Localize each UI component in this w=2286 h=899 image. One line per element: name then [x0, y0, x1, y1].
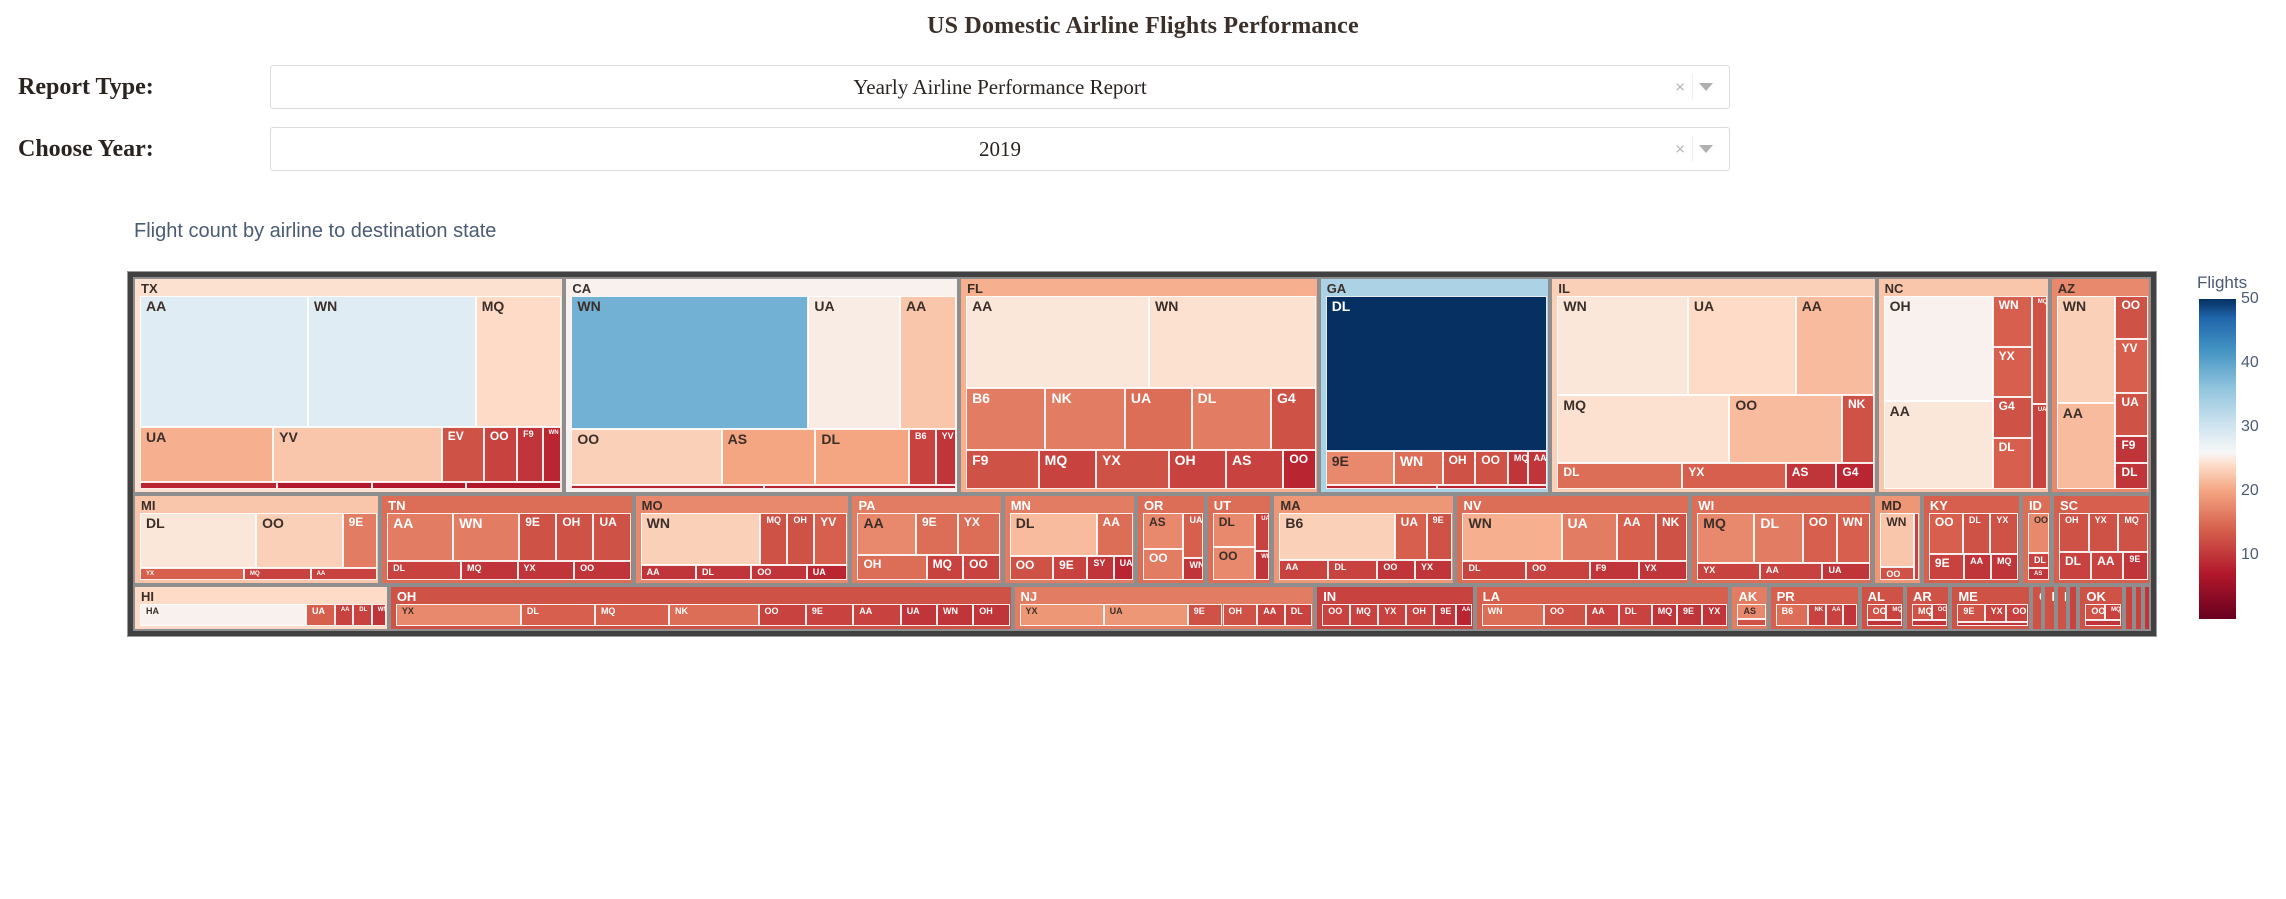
treemap-airline-tile[interactable]: AA — [2091, 552, 2123, 580]
treemap-airline-tile[interactable] — [1957, 622, 2028, 626]
state-label: SC — [2060, 498, 2078, 513]
state-label: MA — [1280, 498, 1300, 513]
airline-label: DL — [1334, 563, 1346, 572]
treemap-airline-tile[interactable]: OO — [1377, 560, 1415, 580]
treemap-airline-tile[interactable]: OO — [1322, 604, 1350, 626]
treemap-airline-tile[interactable]: AA — [1097, 513, 1133, 556]
treemap-airline-tile[interactable]: MQ — [1039, 450, 1096, 489]
treemap-airline-tile[interactable]: WN — [1482, 604, 1544, 626]
choose-year-value: 2019 — [271, 137, 1729, 162]
treemap-airline-tile[interactable]: DL — [2028, 553, 2049, 568]
treemap-state-ne[interactable]: NE — [2056, 585, 2069, 631]
treemap-airline-tile[interactable] — [140, 482, 277, 489]
treemap-airline-tile[interactable]: YX — [1020, 604, 1104, 626]
treemap-airline-tile[interactable]: MQ — [595, 604, 669, 626]
treemap-airline-tile[interactable]: YX — [140, 568, 244, 581]
treemap-airline-tile[interactable]: MQ — [1697, 513, 1754, 563]
treemap-airline-tile[interactable]: 9E — [1188, 604, 1223, 626]
treemap-airline-tile[interactable]: OO — [1143, 549, 1184, 580]
treemap-airline-tile[interactable]: YX — [1993, 347, 2032, 398]
treemap-airline-tile[interactable]: WN — [641, 513, 761, 565]
treemap-state-ma[interactable]: MAB6UA9EAADLOOYX — [1272, 494, 1455, 585]
airline-label: UA — [1828, 566, 1841, 575]
treemap-airline-tile[interactable]: YV — [2115, 339, 2148, 393]
chevron-down-icon[interactable] — [1699, 145, 1713, 153]
treemap-airline-tile[interactable]: MQ — [2105, 604, 2121, 620]
airline-label: DL — [1625, 607, 1637, 616]
treemap-airline-tile[interactable]: OH — [2059, 513, 2089, 552]
treemap-airline-tile[interactable]: OO — [1880, 567, 1913, 580]
treemap-state-ia[interactable]: IA — [2043, 585, 2056, 631]
treemap-airline-tile[interactable]: WN — [453, 513, 519, 561]
airline-label: AA — [1534, 454, 1547, 463]
treemap-airline-tile[interactable]: UA — [901, 604, 937, 626]
choose-year-row: Choose Year: 2019 × — [0, 118, 2286, 180]
airline-label: DL — [146, 516, 165, 531]
treemap-airline-tile[interactable]: YX — [396, 604, 521, 626]
treemap-airline-tile[interactable]: WN — [571, 296, 808, 429]
treemap-state-ak[interactable]: AKAS — [1730, 585, 1768, 631]
airline-label: AA — [1623, 516, 1640, 529]
treemap-airline-tile[interactable]: MQ — [1508, 451, 1528, 485]
treemap-airline-tile[interactable]: G4 — [1993, 397, 2032, 438]
treemap-airline-tile[interactable] — [1843, 604, 1856, 626]
treemap-airline-tile[interactable]: DL — [140, 513, 256, 568]
treemap-airline-tile[interactable]: AA — [2057, 403, 2116, 489]
treemap-airline-tile[interactable]: OO — [1932, 604, 1948, 620]
treemap-airline-tile[interactable]: OH — [1406, 604, 1434, 626]
airline-label: NK — [1662, 516, 1679, 529]
treemap-airline-tile[interactable]: MQ — [760, 513, 787, 565]
airline-label: AA — [2063, 406, 2083, 421]
treemap-airline-tile[interactable]: YX — [1682, 463, 1785, 489]
treemap-airline-tile[interactable]: DL — [1963, 513, 1991, 555]
treemap-airline-tile[interactable]: WN — [1837, 513, 1871, 563]
treemap-airline-tile[interactable]: NK — [1045, 388, 1124, 451]
treemap-state-ky[interactable]: KYOODLYX9EAAMQ — [1922, 494, 2021, 585]
treemap-airline-tile[interactable]: OH — [1884, 296, 1993, 401]
treemap-airline-tile[interactable]: WN — [1394, 451, 1443, 485]
treemap-state-ut[interactable]: UTDLOOUAWN — [1206, 494, 1273, 585]
treemap-airline-tile[interactable]: OH — [973, 604, 1009, 626]
airline-label: 9E — [922, 516, 937, 529]
treemap-airline-tile[interactable]: UA — [140, 427, 273, 481]
treemap-airline-tile[interactable]: F9 — [1590, 561, 1639, 580]
treemap-airline-tile[interactable]: OO — [1729, 395, 1842, 463]
treemap-airline-tile[interactable]: YX — [1096, 450, 1169, 489]
treemap-chart[interactable]: TXAAWNMQUAYVEVOOF9WNCAWNUAAAOOASDLB6YVFL… — [127, 271, 2157, 637]
treemap-airline-tile[interactable]: UA — [808, 296, 900, 429]
treemap-airline-tile[interactable]: DL — [1192, 388, 1271, 451]
treemap-airline-tile[interactable]: UA — [1255, 513, 1269, 551]
treemap-airline-tile[interactable]: UA — [807, 565, 848, 580]
airline-label: AA — [859, 607, 872, 616]
treemap-airline-tile[interactable]: WN — [937, 604, 973, 626]
treemap-airline-tile[interactable]: 9E — [1326, 451, 1394, 485]
treemap-airline-tile[interactable]: AA — [1617, 513, 1656, 561]
airline-label: AA — [1462, 607, 1471, 613]
treemap-airline-tile[interactable]: UA — [1104, 604, 1188, 626]
treemap-airline-tile[interactable]: YX — [1697, 563, 1760, 580]
treemap-airline-tile[interactable] — [1437, 485, 1548, 489]
treemap-airline-tile[interactable]: DL — [1462, 561, 1526, 580]
treemap-state-pa[interactable]: PAAA9EYXOHMQOO — [850, 494, 1002, 585]
airline-label: AS — [1743, 607, 1756, 616]
chevron-down-icon[interactable] — [1699, 83, 1713, 91]
treemap-airline-tile[interactable]: DL — [353, 604, 371, 626]
treemap-state-oh[interactable]: OHYXDLMQNKOO9EAAUAWNOH — [389, 585, 1013, 631]
treemap-airline-tile[interactable] — [466, 482, 561, 489]
treemap-airline-tile[interactable]: MQ — [1886, 604, 1902, 620]
airline-label: AS — [1232, 453, 1251, 468]
treemap-state-nc[interactable]: NCOHAAWNYXG4DLMQUA — [1877, 277, 2050, 494]
treemap-airline-tile[interactable]: NK — [1842, 395, 1874, 463]
treemap-airline-tile[interactable]: YV — [936, 429, 956, 484]
airline-label: F9 — [1596, 564, 1607, 573]
treemap-airline-tile[interactable]: OO — [574, 561, 631, 580]
airline-label: YX — [1703, 566, 1715, 575]
treemap-airline-tile[interactable]: DL — [2115, 463, 2148, 489]
treemap-airline-tile[interactable]: DL — [1326, 296, 1548, 451]
treemap-airline-tile[interactable]: 9E — [1929, 554, 1964, 580]
treemap-airline-tile[interactable]: AA — [335, 604, 353, 626]
treemap-state-tx[interactable]: TXAAWNMQUAYVEVOOF9WN — [133, 277, 564, 494]
treemap-airline-tile[interactable]: AA — [1826, 604, 1843, 626]
treemap-state-az[interactable]: AZWNAAOOYVUAF9DL — [2050, 277, 2151, 494]
treemap-airline-tile[interactable]: G4 — [1271, 388, 1316, 451]
treemap-airline-tile[interactable]: DL — [1557, 463, 1682, 489]
treemap-airline-tile[interactable]: UA — [1183, 513, 1202, 558]
treemap-airline-tile[interactable]: NK — [1656, 513, 1687, 561]
treemap-airline-tile[interactable]: YX — [1639, 561, 1688, 580]
treemap-state-il[interactable]: ILWNUAAAMQOONKDLYXASG4 — [1550, 277, 1876, 494]
treemap-airline-tile[interactable]: DL — [1619, 604, 1652, 626]
treemap-state-nm[interactable]: NM — [2124, 585, 2134, 631]
state-label: AZ — [2058, 281, 2075, 296]
airline-label: MQ — [1563, 398, 1586, 413]
treemap-airline-tile[interactable]: YX — [2089, 513, 2119, 552]
treemap-airline-tile[interactable]: DL — [696, 565, 751, 580]
airline-label: YX — [402, 607, 414, 616]
treemap-state-id[interactable]: IDOODLAS — [2021, 494, 2052, 585]
airline-label: YX — [1708, 607, 1720, 616]
treemap-airline-tile[interactable]: 9E — [1427, 513, 1453, 560]
treemap-airline-tile[interactable]: AA — [1760, 563, 1823, 580]
treemap-state-wv[interactable]: WV — [2143, 585, 2151, 631]
treemap-airline-tile[interactable]: AS — [2028, 568, 2049, 580]
treemap-airline-tile[interactable]: UA — [1822, 563, 1870, 580]
clear-icon[interactable]: × — [1675, 141, 1685, 158]
colorbar-tick: 10 — [2241, 546, 2259, 564]
airline-label: YV — [2121, 342, 2137, 355]
treemap-airline-tile[interactable]: AA — [1257, 604, 1284, 626]
treemap-airline-tile[interactable]: AA — [311, 568, 378, 581]
treemap-airline-tile[interactable]: 9E — [519, 513, 556, 561]
treemap-airline-tile[interactable]: AA — [1796, 296, 1874, 395]
treemap-airline-tile[interactable]: AS — [722, 429, 816, 484]
treemap-airline-tile[interactable]: AA — [966, 296, 1149, 388]
treemap-airline-tile[interactable]: OO — [1010, 556, 1053, 580]
treemap-airline-tile[interactable]: EV — [442, 427, 484, 481]
treemap-airline-tile[interactable]: WN — [1255, 551, 1269, 580]
treemap-state-pr[interactable]: PRB6NKAA — [1769, 585, 1860, 631]
treemap-airline-tile[interactable]: AS — [1737, 604, 1765, 619]
treemap-state-or[interactable]: ORASOOUAWN — [1136, 494, 1206, 585]
treemap-airline-tile[interactable]: SY — [1087, 556, 1113, 580]
treemap-airline-tile[interactable]: DL — [815, 429, 909, 484]
state-label: OR — [1144, 498, 1164, 513]
treemap-airline-tile[interactable]: MQ — [244, 568, 311, 581]
treemap-airline-tile[interactable]: UA — [1562, 513, 1618, 561]
treemap-airline-tile[interactable]: DL — [2059, 552, 2091, 580]
treemap-airline-tile[interactable]: MQ — [1350, 604, 1378, 626]
treemap-airline-tile[interactable]: OO — [1213, 547, 1255, 581]
airline-label: UA — [146, 430, 166, 445]
treemap-airline-tile[interactable]: OO — [256, 513, 343, 568]
treemap-airline-tile[interactable]: OO — [571, 429, 721, 484]
treemap-airline-tile[interactable]: AA — [1586, 604, 1619, 626]
treemap-airline-tile[interactable]: B6 — [909, 429, 936, 484]
treemap-airline-tile[interactable]: WN — [1183, 558, 1202, 580]
treemap-airline-tile[interactable]: AA — [641, 565, 696, 580]
treemap-airline-tile[interactable]: WN — [543, 427, 562, 481]
report-type-value: Yearly Airline Performance Report — [271, 75, 1729, 100]
treemap-airline-tile[interactable]: OO — [1283, 450, 1315, 489]
treemap-airline-tile[interactable]: OO — [2006, 604, 2028, 622]
airline-label: OO — [1016, 559, 1035, 572]
treemap-state-sd[interactable]: SD — [2134, 585, 2144, 631]
treemap-airline-tile[interactable]: AA — [1884, 401, 1993, 489]
treemap-state-ct[interactable]: CT — [2031, 585, 2044, 631]
treemap-airline-tile[interactable]: NK — [1808, 604, 1825, 626]
treemap-airline-tile[interactable]: AS — [1226, 450, 1283, 489]
treemap-airline-tile[interactable]: MQ — [1991, 554, 2018, 580]
treemap-airline-tile[interactable]: 9E — [1434, 604, 1455, 626]
treemap-airline-tile[interactable] — [1326, 485, 1437, 489]
treemap-airline-tile[interactable] — [1867, 620, 1902, 626]
treemap-airline-tile[interactable]: OH — [1223, 604, 1258, 626]
treemap-state-wi[interactable]: WIMQDLOOWNYXAAUA — [1690, 494, 1873, 585]
treemap-airline-tile[interactable]: YX — [958, 513, 1000, 555]
treemap-airline-tile[interactable]: OO — [751, 565, 806, 580]
treemap-airline-tile[interactable]: OO — [2028, 513, 2049, 553]
treemap-state-fl[interactable]: FLAAWNB6NKUADLG4F9MQYXOHASOO — [959, 277, 1319, 494]
treemap-airline-tile[interactable]: 9E — [1957, 604, 1984, 622]
report-type-label: Report Type: — [0, 74, 270, 101]
treemap-airline-tile[interactable]: 9E — [343, 513, 378, 568]
treemap-airline-tile[interactable]: UA — [1125, 388, 1192, 451]
treemap-airline-tile[interactable]: WN — [1149, 296, 1316, 388]
treemap-airline-tile[interactable]: F9 — [517, 427, 542, 481]
airline-label: NK — [1051, 391, 1071, 406]
treemap-airline-tile[interactable]: AA — [900, 296, 956, 429]
treemap-state-ca[interactable]: CAWNUAAAOOASDLB6YV — [564, 277, 959, 494]
treemap-airline-tile[interactable]: DL — [1213, 513, 1255, 547]
state-label: OK — [2086, 589, 2106, 604]
treemap-airline-tile[interactable]: WN — [1462, 513, 1561, 561]
treemap-airline-tile[interactable]: YV — [814, 513, 847, 565]
treemap-airline-tile[interactable]: AA — [140, 296, 308, 427]
treemap-airline-tile[interactable]: WN — [1880, 513, 1913, 567]
treemap-state-ar[interactable]: ARMQOO — [1905, 585, 1950, 631]
airline-label: WN — [577, 299, 600, 314]
treemap-airline-tile[interactable]: MQ — [476, 296, 562, 427]
treemap-airline-tile[interactable]: YV — [273, 427, 442, 481]
treemap-state-nj[interactable]: NJYXUA9EOHAADL — [1013, 585, 1316, 631]
treemap-airline-tile[interactable] — [1912, 620, 1947, 626]
airline-label: WN — [1400, 454, 1423, 469]
treemap-state-ok[interactable]: OKOOMQ — [2078, 585, 2123, 631]
treemap-airline-tile[interactable]: UA — [1395, 513, 1427, 560]
treemap-airline-tile[interactable]: OO — [2085, 604, 2105, 620]
treemap-airline-tile[interactable]: AA — [387, 513, 453, 561]
treemap-airline-tile[interactable]: HA — [140, 604, 306, 626]
treemap-airline-tile[interactable]: OO — [1544, 604, 1586, 626]
treemap-airline-tile[interactable]: WN — [1557, 296, 1687, 395]
treemap-state-nd[interactable]: ND — [2068, 585, 2078, 631]
filter-controls: Report Type: Yearly Airline Performance … — [0, 56, 2286, 180]
treemap-airline-tile[interactable]: UA — [2115, 393, 2148, 436]
treemap-airline-tile[interactable]: OH — [787, 513, 814, 565]
treemap-airline-tile[interactable]: MQ — [1557, 395, 1729, 463]
treemap-airline-tile[interactable]: AS — [1143, 513, 1184, 549]
treemap-airline-tile[interactable]: AA — [853, 604, 900, 626]
treemap-airline-tile[interactable]: UA — [2032, 404, 2047, 489]
treemap-state-hi[interactable]: HIHAUAAADLWN — [133, 585, 389, 631]
treemap-airline-tile[interactable]: MQ — [2118, 513, 2148, 552]
airline-label: OO — [1149, 552, 1168, 565]
treemap-airline-tile[interactable]: YX — [1702, 604, 1727, 626]
treemap-airline-tile[interactable]: MQ — [1652, 604, 1677, 626]
treemap-airline-tile[interactable]: YX — [1985, 604, 2007, 622]
airline-label: YV — [820, 516, 836, 529]
treemap-state-me[interactable]: ME9EYXOO — [1950, 585, 2031, 631]
treemap-airline-tile[interactable]: YX — [1990, 513, 2018, 555]
treemap-airline-tile[interactable]: DL — [1993, 438, 2032, 489]
treemap-airline-tile[interactable]: 9E — [1053, 556, 1087, 580]
treemap-state-mo[interactable]: MOWNMQOHYVAADLOOUA — [634, 494, 851, 585]
treemap-airline-tile[interactable]: AA — [1528, 451, 1548, 485]
airline-label: F9 — [2121, 439, 2135, 452]
treemap-state-sc[interactable]: SCOHYXMQDLAA9E — [2052, 494, 2151, 585]
choose-year-dropdown[interactable]: 2019 × — [270, 127, 1730, 171]
treemap-airline-tile[interactable]: F9 — [966, 450, 1039, 489]
treemap-airline-tile[interactable]: DL — [387, 561, 461, 580]
treemap-airline-tile[interactable]: OO — [2115, 296, 2148, 339]
treemap-airline-tile[interactable] — [571, 485, 763, 489]
treemap-state-mi[interactable]: MIDLOO9EYXMQAA — [133, 494, 380, 585]
treemap-airline-tile[interactable] — [2085, 620, 2120, 626]
treemap-airline-tile[interactable]: OO — [484, 427, 517, 481]
treemap-airline-tile[interactable]: WN — [2057, 296, 2116, 403]
treemap-airline-tile[interactable]: 9E — [2123, 552, 2148, 580]
treemap-airline-tile[interactable]: OH — [857, 555, 926, 580]
treemap-airline-tile[interactable]: YX — [1415, 560, 1453, 580]
airline-label: WN — [1886, 516, 1906, 529]
treemap-airline-tile[interactable]: UA — [306, 604, 335, 626]
treemap-airline-tile[interactable]: UA — [1688, 296, 1796, 395]
treemap-airline-tile[interactable]: 9E — [806, 604, 853, 626]
treemap-airline-tile[interactable]: F9 — [2115, 436, 2148, 462]
treemap-state-in[interactable]: INOOMQYXOH9EAA — [1315, 585, 1474, 631]
treemap-state-la[interactable]: LAWNOOAADLMQ9EYX — [1475, 585, 1731, 631]
treemap-state-mn[interactable]: MNDLAAOO9ESYUA — [1003, 494, 1136, 585]
treemap-airline-tile[interactable]: B6 — [1776, 604, 1809, 626]
report-type-dropdown[interactable]: Yearly Airline Performance Report × — [270, 65, 1730, 109]
treemap-state-al[interactable]: ALOOMQ — [1860, 585, 1905, 631]
treemap-airline-tile[interactable]: OO — [759, 604, 806, 626]
treemap-airline-tile[interactable]: OO — [1803, 513, 1837, 563]
airline-label: MQ — [1045, 453, 1068, 468]
treemap-airline-tile[interactable]: UA — [1114, 556, 1133, 580]
treemap-airline-tile[interactable]: DL — [521, 604, 595, 626]
treemap-airline-tile[interactable]: AS — [1786, 463, 1837, 489]
treemap-airline-tile[interactable]: AA — [1964, 554, 1991, 580]
colorbar-gradient — [2199, 299, 2236, 619]
treemap-airline-tile[interactable]: UA — [593, 513, 630, 561]
treemap-airline-tile[interactable]: DL — [1328, 560, 1377, 580]
treemap-airline-tile[interactable]: DL — [1010, 513, 1097, 556]
treemap-airline-tile[interactable] — [1737, 619, 1765, 626]
treemap-airline-tile[interactable]: 9E — [1677, 604, 1702, 626]
treemap-airline-tile[interactable] — [277, 482, 372, 489]
treemap-airline-tile[interactable] — [764, 485, 956, 489]
airline-label: B6 — [1782, 607, 1794, 616]
treemap-airline-tile[interactable]: YX — [518, 561, 575, 580]
state-label: PA — [858, 498, 875, 513]
airline-label: UA — [1694, 299, 1714, 314]
treemap-airline-tile[interactable]: OO — [1929, 513, 1963, 555]
airline-label: DL — [1969, 516, 1981, 525]
airline-label: WN — [1189, 561, 1202, 570]
treemap-airline-tile[interactable]: WN — [308, 296, 476, 427]
treemap-airline-tile[interactable]: MQ — [2032, 296, 2047, 404]
airline-label: UA — [1110, 607, 1123, 616]
treemap-airline-tile[interactable]: B6 — [1279, 513, 1394, 560]
treemap-airline-tile[interactable]: WN — [1993, 296, 2032, 347]
treemap-airline-tile[interactable]: 9E — [916, 513, 958, 555]
treemap-airline-tile[interactable]: OO — [1526, 561, 1590, 580]
treemap-airline-tile[interactable]: AA — [1456, 604, 1472, 626]
treemap-airline-tile[interactable]: NK — [669, 604, 759, 626]
treemap-airline-tile[interactable]: AA — [857, 513, 915, 555]
treemap-state-tn[interactable]: TNAAWN9EOHUADLMQYXOO — [380, 494, 633, 585]
treemap-airline-tile[interactable]: B6 — [966, 388, 1045, 451]
treemap-airline-tile[interactable]: OH — [1169, 450, 1226, 489]
treemap-airline-tile[interactable]: DL — [1285, 604, 1312, 626]
treemap-airline-tile[interactable] — [372, 482, 467, 489]
treemap-airline-tile[interactable]: MQ — [927, 555, 964, 580]
treemap-airline-tile[interactable]: OO — [1475, 451, 1508, 485]
treemap-state-nv[interactable]: NVWNUAAANKDLOOF9YX — [1455, 494, 1690, 585]
treemap-airline-tile[interactable]: DL — [1754, 513, 1803, 563]
treemap-airline-tile[interactable]: OO — [963, 555, 1000, 580]
treemap-airline-tile[interactable]: YX — [1378, 604, 1406, 626]
treemap-airline-tile[interactable]: G4 — [1836, 463, 1873, 489]
treemap-state-ga[interactable]: GADL9EWNOHOOMQAA — [1319, 277, 1551, 494]
treemap-airline-tile[interactable]: MQ — [461, 561, 518, 580]
treemap-state-md[interactable]: MDWNOO — [1873, 494, 1922, 585]
colorbar-title: Flights — [2197, 273, 2247, 293]
treemap-airline-tile[interactable]: MQ — [1912, 604, 1932, 620]
treemap-airline-tile[interactable]: OH — [556, 513, 593, 561]
treemap-airline-tile[interactable]: WN — [372, 604, 386, 626]
treemap-airline-tile[interactable]: OH — [1443, 451, 1476, 485]
treemap-airline-tile[interactable]: AA — [1279, 560, 1328, 580]
clear-icon[interactable]: × — [1675, 79, 1685, 96]
treemap-airline-tile[interactable] — [1914, 513, 1919, 580]
treemap-airline-tile[interactable]: OO — [1867, 604, 1887, 620]
